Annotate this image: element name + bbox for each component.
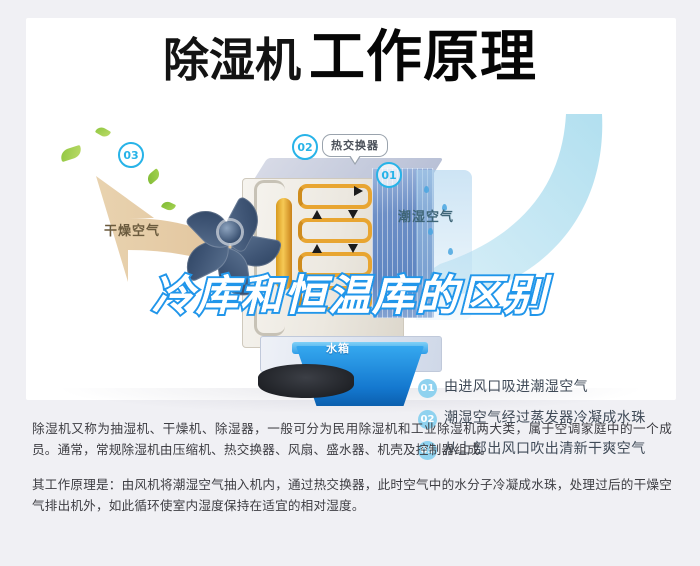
heat-exchanger-callout: 热交换器 (322, 134, 388, 157)
legend-text-01: 由进风口吸进潮湿空气 (444, 378, 588, 397)
leaf-icon (95, 125, 111, 139)
body-paragraph-2: 其工作原理是：由风机将潮湿空气抽入机内，通过热交换器，此时空气中的水分子冷凝成水… (32, 474, 672, 516)
body-copy: 除湿机又称为抽湿机、干燥机、除湿器，一般可分为民用除湿机和工业除湿机两大类，属于… (32, 418, 672, 530)
humid-air-label: 潮湿空气 (398, 206, 454, 225)
diagram-badge-03: 03 (118, 142, 144, 168)
legend-badge-01: 01 (418, 379, 437, 398)
diagram-badge-02: 02 (292, 134, 318, 160)
legend-item-01: 01 由进风口吸进潮湿空气 (418, 378, 700, 398)
watermark-text: 冷库和恒温库的区别 (0, 262, 700, 323)
callout-tail-icon (349, 156, 361, 165)
dry-air-label: 干燥空气 (104, 220, 160, 239)
page-title-part1: 除湿机 (163, 33, 301, 87)
fan-hub (219, 221, 241, 243)
water-tank-label: 水箱 (326, 340, 350, 356)
heat-exchanger-callout-label: 热交换器 (331, 139, 379, 152)
body-paragraph-1: 除湿机又称为抽湿机、干燥机、除湿器，一般可分为民用除湿机和工业除湿机两大类，属于… (32, 418, 672, 460)
page-title-part2: 工作原理 (309, 25, 537, 90)
leaf-icon (59, 145, 83, 162)
machine-base (258, 364, 354, 398)
diagram-badge-01: 01 (376, 162, 402, 188)
dehumidifier-diagram: 03 02 01 热交换器 干燥空气 潮湿空气 水箱 01 由进风口吸进潮湿空气… (26, 120, 676, 400)
page-title: 除湿机工作原理 (0, 30, 700, 86)
